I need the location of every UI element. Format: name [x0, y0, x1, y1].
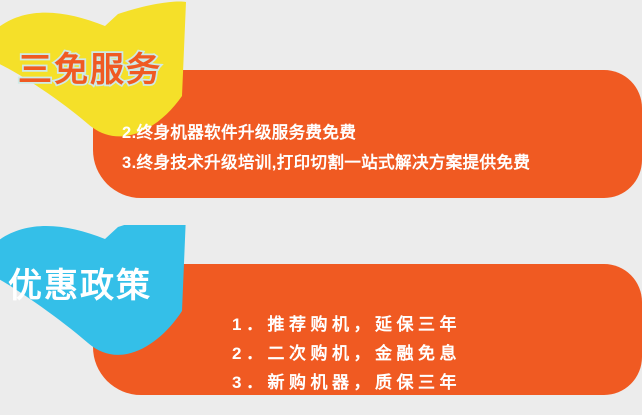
- policy-list-item: 2．二次购机，金融免息: [232, 339, 461, 368]
- section-preferential-policy: 优惠政策 1．推荐购机，延保三年 2．二次购机，金融免息 3．新购机器，质保三年: [0, 225, 642, 415]
- section-three-free-service: 三免服务 2.终身机器软件升级服务费免费 3.终身技术升级培训,打印切割一站式解…: [0, 0, 642, 210]
- service-list-item: 2.终身机器软件升级服务费免费: [122, 118, 530, 148]
- service-list-item: 3.终身技术升级培训,打印切割一站式解决方案提供免费: [122, 148, 530, 178]
- policy-list-item: 3．新购机器，质保三年: [232, 368, 461, 397]
- section-title-three-free-service: 三免服务: [18, 42, 162, 91]
- policy-list: 1．推荐购机，延保三年 2．二次购机，金融免息 3．新购机器，质保三年: [232, 310, 461, 397]
- poster-canvas: 三免服务 2.终身机器软件升级服务费免费 3.终身技术升级培训,打印切割一站式解…: [0, 0, 642, 415]
- service-list: 2.终身机器软件升级服务费免费 3.终身技术升级培训,打印切割一站式解决方案提供…: [122, 118, 530, 178]
- policy-list-item: 1．推荐购机，延保三年: [232, 310, 461, 339]
- section-title-preferential-policy: 优惠政策: [8, 258, 152, 307]
